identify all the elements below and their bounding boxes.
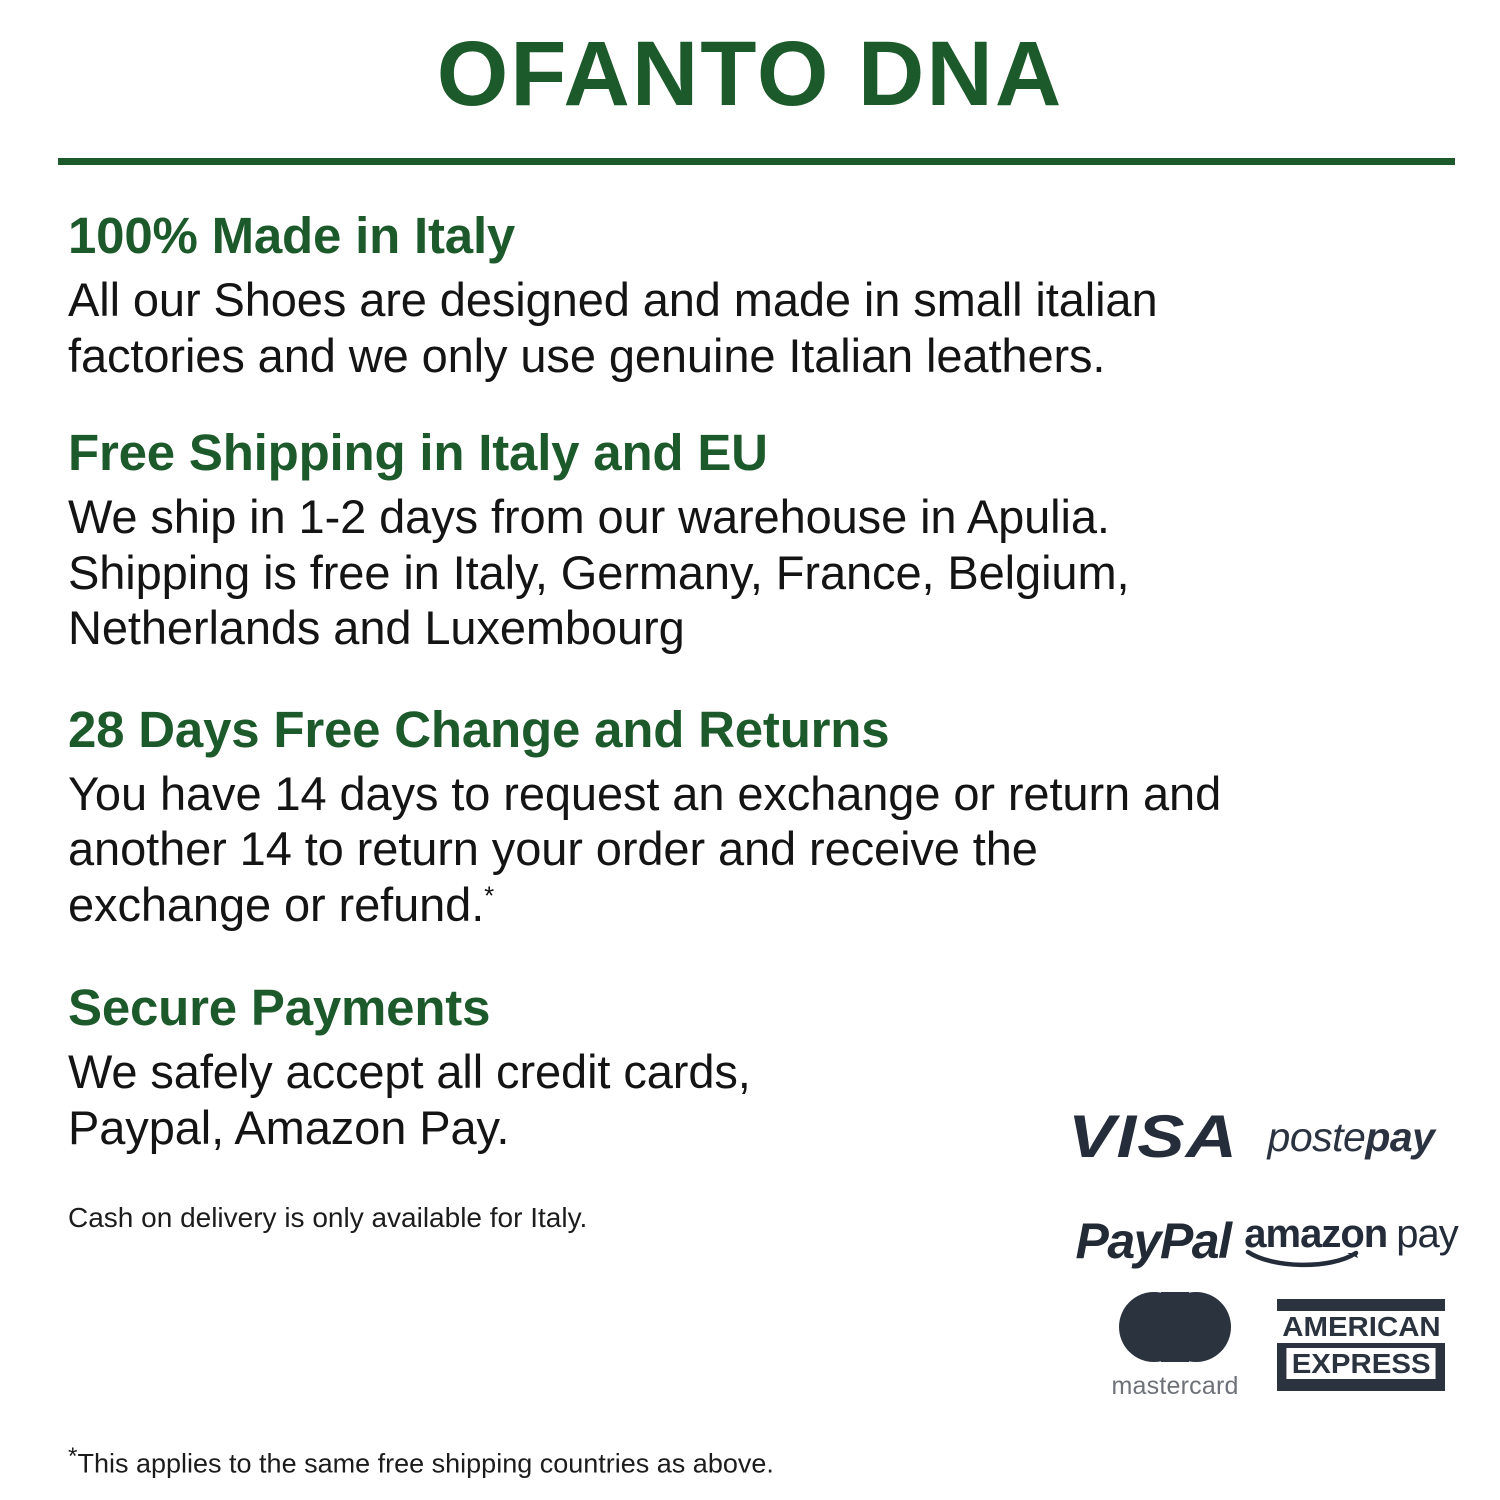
body-line-text: exchange or refund.	[68, 878, 484, 931]
visa-logo-slot: VISA	[1055, 1107, 1251, 1167]
payment-logo-row-3: mastercard AMERICAN EXPRESS	[1055, 1293, 1455, 1397]
section-body-returns: You have 14 days to request an exchange …	[68, 766, 1408, 932]
payment-logos-group: VISA postepay PayPal amazonpay	[1055, 1085, 1455, 1397]
dna-info-panel: OFANTO DNA 100% Made in Italy All our Sh…	[0, 0, 1500, 1500]
section-returns: 28 Days Free Change and Returns You have…	[68, 700, 1468, 933]
body-line: Paypal, Amazon Pay.	[68, 1100, 968, 1155]
body-line: factories and we only use genuine Italia…	[68, 328, 1408, 383]
postepay-light-text: poste	[1268, 1114, 1366, 1160]
section-body-free-shipping: We ship in 1-2 days from our warehouse i…	[68, 489, 1408, 655]
mastercard-icon: mastercard	[1112, 1292, 1239, 1399]
section-heading-free-shipping: Free Shipping in Italy and EU	[68, 423, 1468, 483]
body-line: another 14 to return your order and rece…	[68, 821, 1408, 876]
visa-icon: VISA	[1068, 1107, 1238, 1167]
section-heading-secure-payments: Secure Payments	[68, 978, 1468, 1038]
body-line: Netherlands and Luxembourg	[68, 600, 1408, 655]
body-line: We safely accept all credit cards,	[68, 1044, 968, 1099]
american-express-icon: AMERICAN EXPRESS	[1277, 1299, 1445, 1391]
body-line: All our Shoes are designed and made in s…	[68, 272, 1408, 327]
amazon-pay-icon: amazonpay	[1244, 1214, 1457, 1268]
section-body-made-in-italy: All our Shoes are designed and made in s…	[68, 272, 1408, 383]
postepay-icon: postepay	[1268, 1117, 1435, 1158]
footnote: *This applies to the same free shipping …	[68, 1442, 774, 1480]
payment-logo-row-1: VISA postepay	[1055, 1085, 1455, 1189]
header-divider	[58, 158, 1455, 165]
mastercard-label: mastercard	[1112, 1374, 1239, 1399]
amazon-smile-icon	[1246, 1248, 1364, 1268]
page-title: OFANTO DNA	[0, 26, 1500, 123]
body-line: Shipping is free in Italy, Germany, Fran…	[68, 545, 1408, 600]
body-line-with-asterisk: exchange or refund.*	[68, 877, 1408, 932]
amazon-pay-word: pay	[1396, 1212, 1458, 1256]
paypal-logo-slot: PayPal	[1055, 1216, 1251, 1266]
section-made-in-italy: 100% Made in Italy All our Shoes are des…	[68, 206, 1468, 383]
amex-logo-slot: AMERICAN EXPRESS	[1267, 1299, 1455, 1391]
section-body-secure-payments: We safely accept all credit cards, Paypa…	[68, 1044, 968, 1155]
payment-logo-row-2: PayPal amazonpay	[1055, 1189, 1455, 1293]
section-heading-returns: 28 Days Free Change and Returns	[68, 700, 1468, 760]
mastercard-logo-slot: mastercard	[1083, 1292, 1267, 1399]
asterisk-marker: *	[484, 882, 494, 910]
body-line: We ship in 1-2 days from our warehouse i…	[68, 489, 1408, 544]
footnote-text: This applies to the same free shipping c…	[77, 1449, 773, 1479]
postepay-bold-text: pay	[1365, 1114, 1434, 1160]
section-free-shipping: Free Shipping in Italy and EU We ship in…	[68, 423, 1468, 656]
body-line: You have 14 days to request an exchange …	[68, 766, 1408, 821]
amex-line-express: EXPRESS	[1286, 1348, 1435, 1379]
amex-line-american: AMERICAN	[1277, 1311, 1446, 1342]
section-heading-made-in-italy: 100% Made in Italy	[68, 206, 1468, 266]
mastercard-circles-icon	[1119, 1292, 1231, 1362]
paypal-icon: PayPal	[1075, 1216, 1230, 1266]
mastercard-overlap	[1161, 1292, 1189, 1362]
postepay-logo-slot: postepay	[1251, 1117, 1451, 1158]
amazonpay-logo-slot: amazonpay	[1251, 1214, 1451, 1268]
